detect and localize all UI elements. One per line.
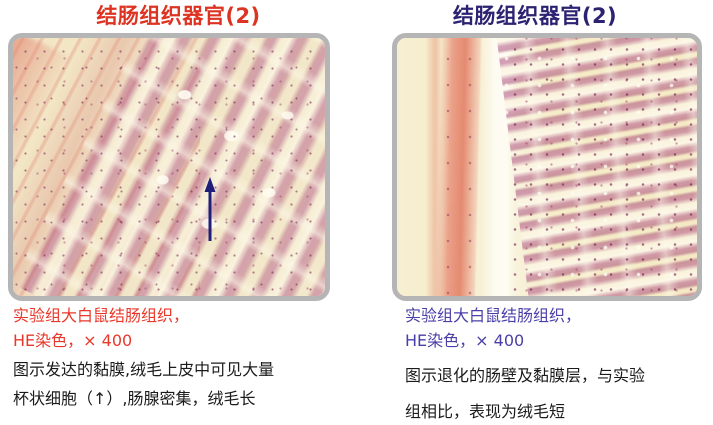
caption-right-highlight-line-1: 实验组大白鼠结肠组织， <box>405 303 645 328</box>
mucosa-nuclei-speckles <box>505 38 697 296</box>
histology-slide-right <box>397 38 697 296</box>
caption-right-body-line-2: 组相比，表现为绒毛短 <box>405 398 645 425</box>
caption-left: 实验组大白鼠结肠组织， HE染色，× 400 图示发达的黏膜,绒毛上皮中可见大量… <box>13 303 274 411</box>
histology-slide-left <box>13 38 325 296</box>
caption-right: 实验组大白鼠结肠组织， HE染色，× 400 图示退化的肠壁及黏膜层，与实验 组… <box>405 303 645 425</box>
caption-left-highlight-line-1: 实验组大白鼠结肠组织， <box>13 303 274 328</box>
caption-left-body-line-1: 图示发达的黏膜,绒毛上皮中可见大量 <box>13 357 274 382</box>
caption-right-body-line-1: 图示退化的肠壁及黏膜层，与实验 <box>405 362 645 389</box>
up-arrow-icon <box>203 177 217 241</box>
nuclei-speckles <box>13 38 325 296</box>
page-title-left: 结肠组织器官(2) <box>0 3 357 29</box>
wall-nuclei-speckles <box>433 38 487 296</box>
micrograph-left[interactable] <box>8 33 330 301</box>
caption-left-body-line-2: 杯状细胞（↑）,肠腺密集，绒毛长 <box>13 386 274 411</box>
panel-left: 结肠组织器官(2) 实验组大白鼠结肠组织， HE染色，× 400 图示发达的黏膜… <box>0 0 357 418</box>
caption-right-highlight-line-2: HE染色，× 400 <box>405 328 645 353</box>
panel-right: 结肠组织器官(2) 实验组大白鼠结肠组织， HE染色，× 400 图示退化的肠壁… <box>357 0 713 418</box>
micrograph-right[interactable] <box>392 33 702 301</box>
caption-left-highlight-line-2: HE染色，× 400 <box>13 328 274 353</box>
page-title-right: 结肠组织器官(2) <box>357 3 713 29</box>
